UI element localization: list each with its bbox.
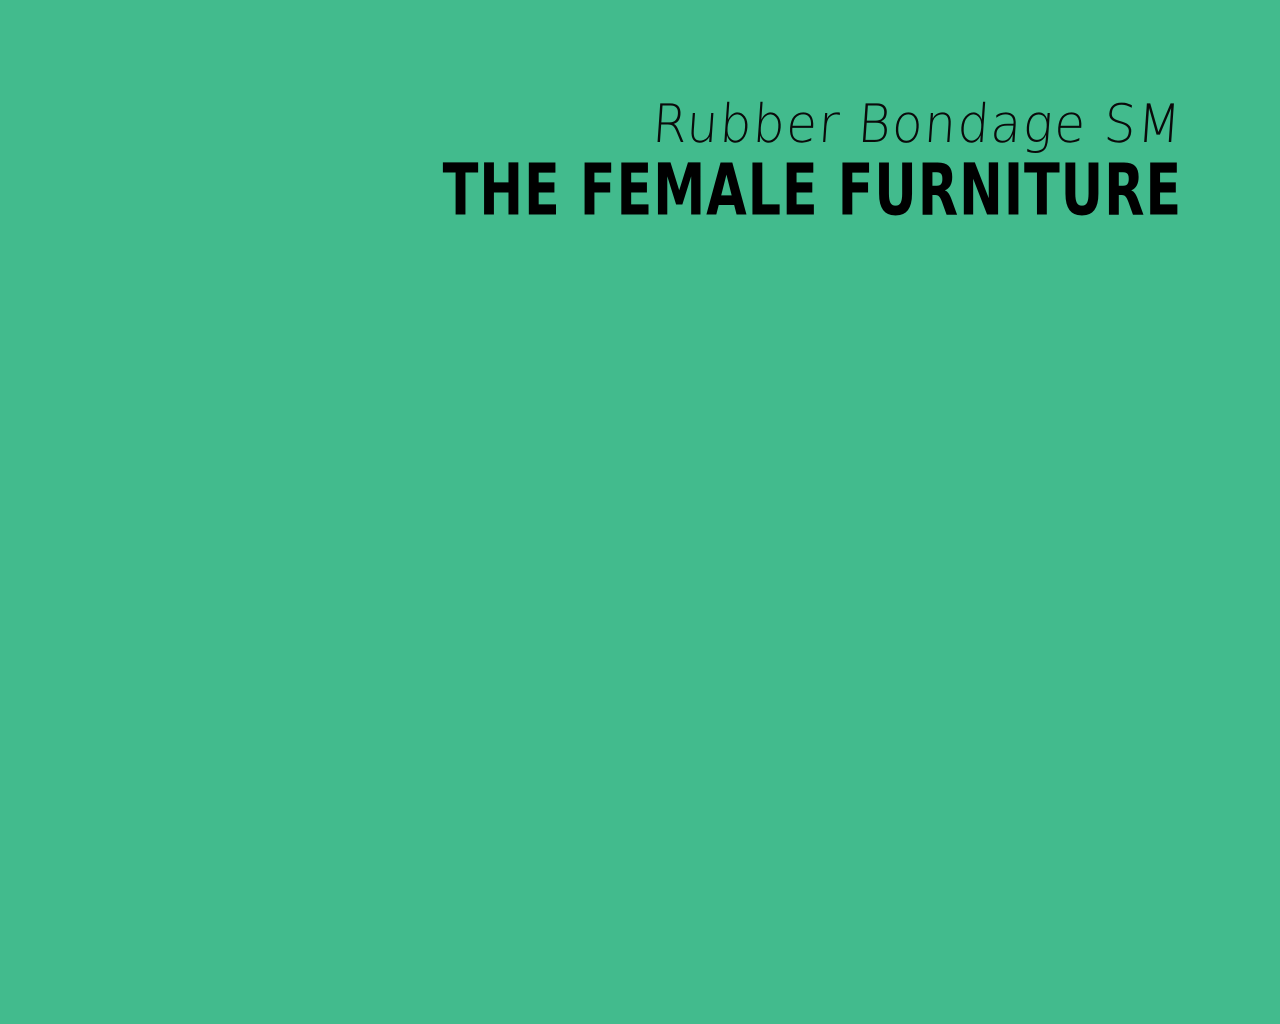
slide-subtitle: Rubber Bondage SM: [0, 94, 1184, 153]
title-block: Rubber Bondage SM THE FEMALE FURNITURE: [0, 96, 1182, 224]
slide-canvas: Rubber Bondage SM THE FEMALE FURNITURE: [0, 0, 1280, 1024]
slide-title: THE FEMALE FURNITURE: [213, 154, 1182, 228]
